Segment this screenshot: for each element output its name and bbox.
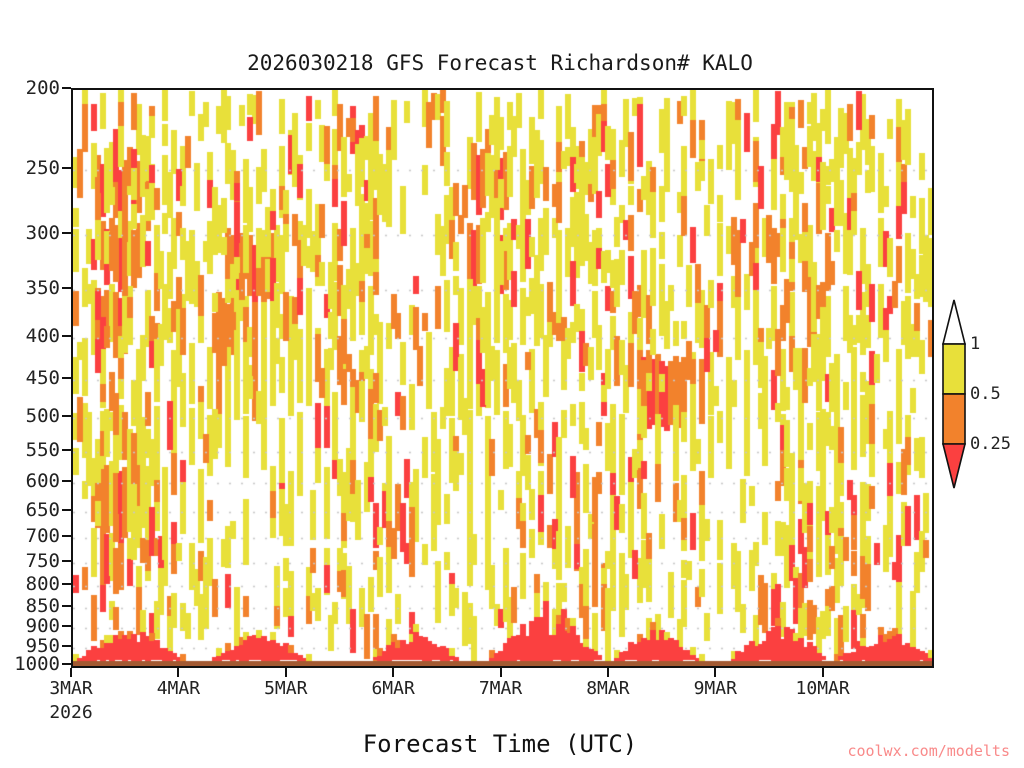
- colorbar-extend-low: [943, 444, 965, 488]
- y-axis-tick-mark: [62, 480, 71, 482]
- x-axis-labels: 3MAR20264MAR5MAR6MAR7MAR8MAR9MAR10MAR: [71, 678, 934, 728]
- y-axis-tick-label: 650: [26, 499, 60, 521]
- y-axis-tick-label: 250: [26, 157, 60, 179]
- y-axis-tick-mark: [62, 335, 71, 337]
- y-axis-tick-label: 350: [26, 277, 60, 299]
- x-axis-tick-mark: [285, 668, 287, 677]
- y-axis-tick-mark: [62, 663, 71, 665]
- x-axis-tick-label: 3MAR: [49, 678, 92, 699]
- y-axis-tick-mark: [62, 449, 71, 451]
- colorbar-tick-label: 0.5: [970, 384, 1001, 404]
- y-axis-tick-label: 600: [26, 470, 60, 492]
- y-axis-tick-label: 1000: [14, 653, 60, 675]
- y-axis-tick-mark: [62, 287, 71, 289]
- chart-title: 2026030218 GFS Forecast Richardson# KALO: [0, 51, 1000, 75]
- x-axis-tick-label: 7MAR: [479, 678, 522, 699]
- x-axis-tick-label: 6MAR: [371, 678, 414, 699]
- y-axis-tick-mark: [62, 167, 71, 169]
- y-axis-tick-label: 400: [26, 325, 60, 347]
- x-axis-tick-label: 5MAR: [264, 678, 307, 699]
- colorbar-band-yellow: [943, 344, 965, 394]
- x-axis-tick-label: 10MAR: [796, 678, 850, 699]
- colorbar-tick-label: 0.25: [970, 434, 1011, 454]
- watermark-credit: coolwx.com/modelts: [847, 742, 1010, 760]
- x-axis-tick-mark: [392, 668, 394, 677]
- x-axis-tick-label: 9MAR: [694, 678, 737, 699]
- y-axis-tick-mark: [62, 560, 71, 562]
- colorbar-band-orange: [943, 394, 965, 444]
- forecast-sounding-chart: 2026030218 GFS Forecast Richardson# KALO…: [0, 0, 1024, 768]
- y-axis-tick-mark: [62, 87, 71, 89]
- x-axis-tick-mark: [177, 668, 179, 677]
- x-axis-year-label: 2026: [49, 702, 92, 723]
- y-axis-tick-mark: [62, 583, 71, 585]
- x-axis-ticks: [71, 668, 934, 677]
- x-axis-tick-mark: [500, 668, 502, 677]
- colorbar-swatches: [940, 296, 970, 492]
- y-axis-tick-mark: [62, 377, 71, 379]
- y-axis-labels: 2002503003504004505005506006507007508008…: [0, 88, 60, 668]
- plot-area[interactable]: [71, 88, 934, 668]
- x-axis-tick-mark: [714, 668, 716, 677]
- colorbar-legend[interactable]: 10.50.25: [940, 296, 1024, 492]
- y-axis-tick-mark: [62, 605, 71, 607]
- y-axis-tick-mark: [62, 232, 71, 234]
- colorbar-tick-label: 1: [970, 334, 980, 354]
- y-axis-tick-label: 700: [26, 525, 60, 547]
- y-axis-tick-mark: [62, 415, 71, 417]
- x-axis-tick-label: 4MAR: [157, 678, 200, 699]
- x-axis-tick-label: 8MAR: [586, 678, 629, 699]
- y-axis-tick-mark: [62, 645, 71, 647]
- y-axis-tick-label: 850: [26, 595, 60, 617]
- y-axis-tick-label: 450: [26, 367, 60, 389]
- y-axis-tick-mark: [62, 509, 71, 511]
- x-axis-tick-mark: [70, 668, 72, 677]
- y-axis-tick-label: 800: [26, 573, 60, 595]
- y-axis-tick-label: 200: [26, 77, 60, 99]
- colorbar-extend-high: [943, 300, 965, 344]
- y-axis-tick-mark: [62, 625, 71, 627]
- y-axis-tick-mark: [62, 535, 71, 537]
- y-axis-tick-label: 550: [26, 439, 60, 461]
- y-axis-tick-label: 500: [26, 405, 60, 427]
- y-axis-tick-label: 300: [26, 222, 60, 244]
- heatmap-canvas: [73, 90, 932, 666]
- y-axis-tick-label: 750: [26, 550, 60, 572]
- x-axis-tick-mark: [822, 668, 824, 677]
- x-axis-tick-mark: [607, 668, 609, 677]
- y-axis-ticks: [62, 88, 72, 668]
